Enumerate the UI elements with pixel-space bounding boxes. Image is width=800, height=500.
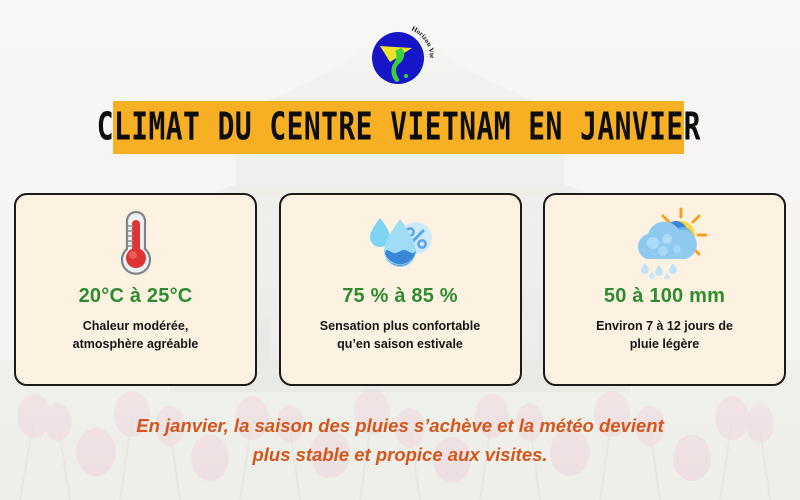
infographic-canvas: Horizon Vietnam CLIMAT DU CENTRE VIETNAM… [0, 0, 800, 500]
page-title: CLIMAT DU CENTRE VIETNAM EN JANVIER [96, 105, 700, 150]
humidity-droplet-percent-icon [364, 205, 436, 281]
stat-card-temperature: 20°C à 25°C Chaleur modérée,atmosphère a… [14, 193, 257, 386]
stat-card-rainfall: 50 à 100 mm Environ 7 à 12 jours depluie… [543, 193, 786, 386]
stat-value-rainfall: 50 à 100 mm [604, 285, 725, 308]
stat-description-rainfall: Environ 7 à 12 jours depluie légère [586, 317, 743, 353]
stat-value-humidity: 75 % à 85 % [342, 285, 458, 308]
horizon-vietnam-logo: Horizon Vietnam [366, 18, 434, 90]
caption-line-1: En janvier, la saison des pluies s’achèv… [40, 412, 760, 441]
thermometer-icon [109, 205, 163, 281]
stat-description-temperature: Chaleur modérée,atmosphère agréable [63, 317, 209, 353]
stat-value-temperature: 20°C à 25°C [79, 285, 193, 308]
stat-card-humidity: 75 % à 85 % Sensation plus confortablequ… [279, 193, 522, 386]
caption-line-2: plus stable et propice aux visites. [40, 441, 760, 470]
stat-cards-row: 20°C à 25°C Chaleur modérée,atmosphère a… [14, 193, 786, 386]
stat-description-humidity: Sensation plus confortablequ’en saison e… [310, 317, 490, 353]
title-banner: CLIMAT DU CENTRE VIETNAM EN JANVIER [113, 101, 684, 154]
sun-behind-rain-cloud-icon [623, 205, 707, 281]
summary-caption: En janvier, la saison des pluies s’achèv… [40, 412, 760, 469]
